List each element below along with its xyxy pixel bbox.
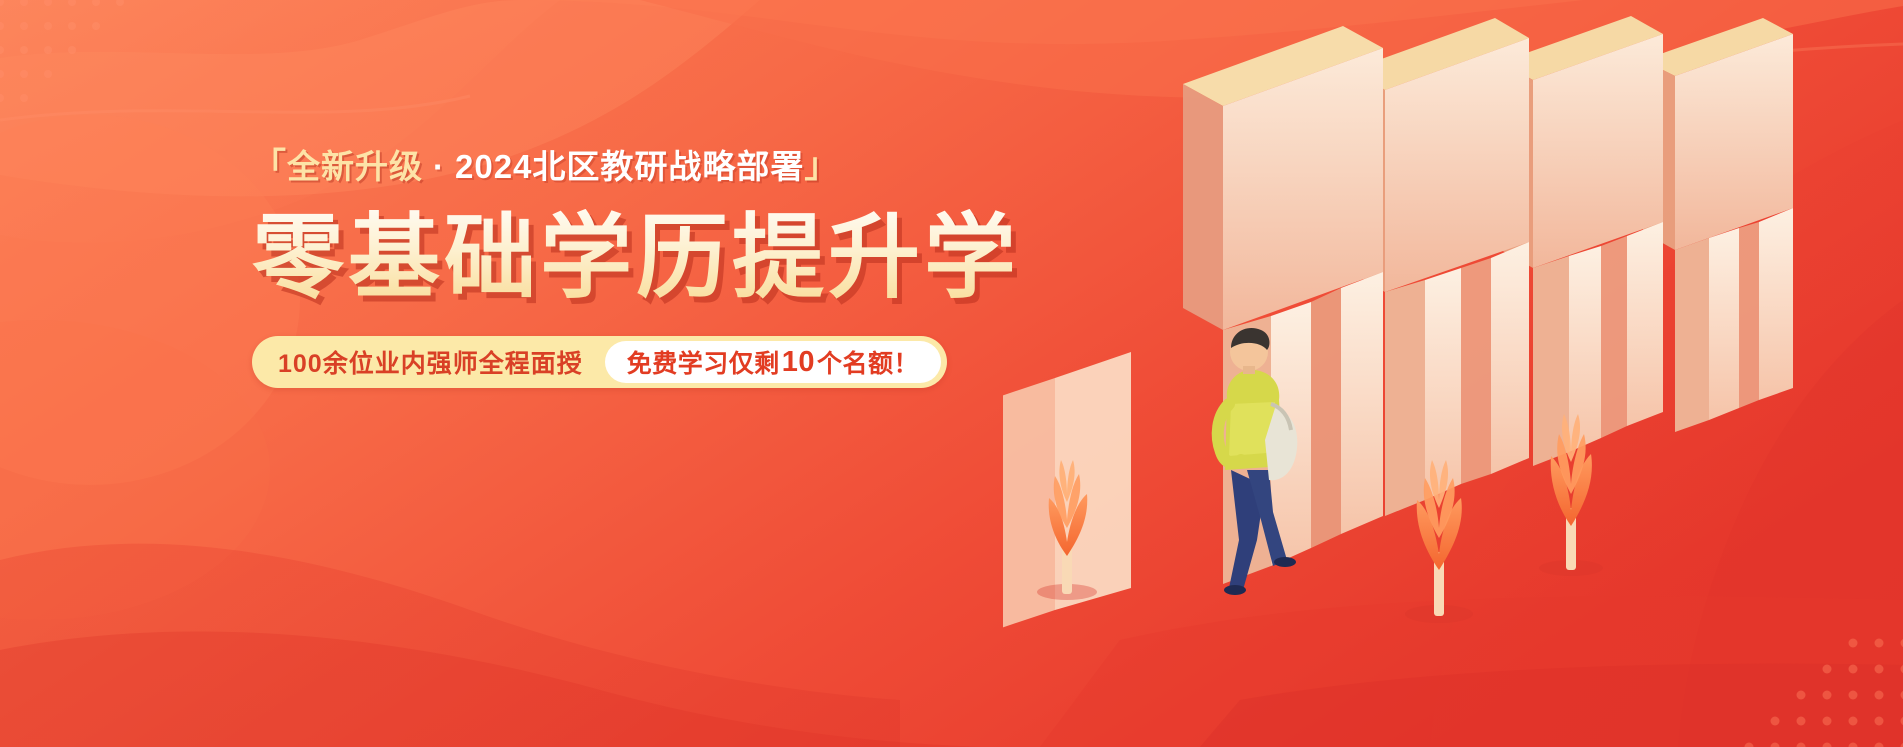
subtitle-gold-text: 全新升级 — [287, 147, 423, 187]
banner-badges-row: 100余位业内强师全程面授 免费学习仅剩10个名额！ — [252, 336, 1012, 388]
instructors-label: 100余位业内强师全程面授 — [278, 344, 605, 380]
highlight-pill: 100余位业内强师全程面授 免费学习仅剩10个名额！ — [252, 336, 947, 388]
seats-suffix-label: 个名额！ — [817, 344, 919, 380]
dot-grid-icon — [0, 0, 182, 104]
page-title: 零基础学历提升学霸班 — [252, 209, 1012, 308]
seats-count: 10 — [780, 346, 817, 379]
subtitle-separator: · — [423, 147, 455, 187]
book-arch-icon — [1003, 0, 1903, 747]
promo-banner: 「 全新升级 · 2024北区教研战略部署 」 零基础学历提升学霸班 100余位… — [0, 0, 1903, 747]
banner-text-block: 「 全新升级 · 2024北区教研战略部署 」 零基础学历提升学霸班 100余位… — [252, 146, 1012, 388]
seats-prefix-label: 免费学习仅剩 — [627, 344, 780, 380]
subtitle-bracket-open: 「 — [252, 146, 287, 187]
subtitle-white-text: 2024北区教研战略部署 — [455, 147, 804, 187]
subtitle-bracket-close: 」 — [804, 146, 839, 187]
banner-subtitle: 「 全新升级 · 2024北区教研战略部署 」 — [252, 146, 1012, 187]
seats-remaining-badge[interactable]: 免费学习仅剩10个名额！ — [605, 341, 941, 383]
